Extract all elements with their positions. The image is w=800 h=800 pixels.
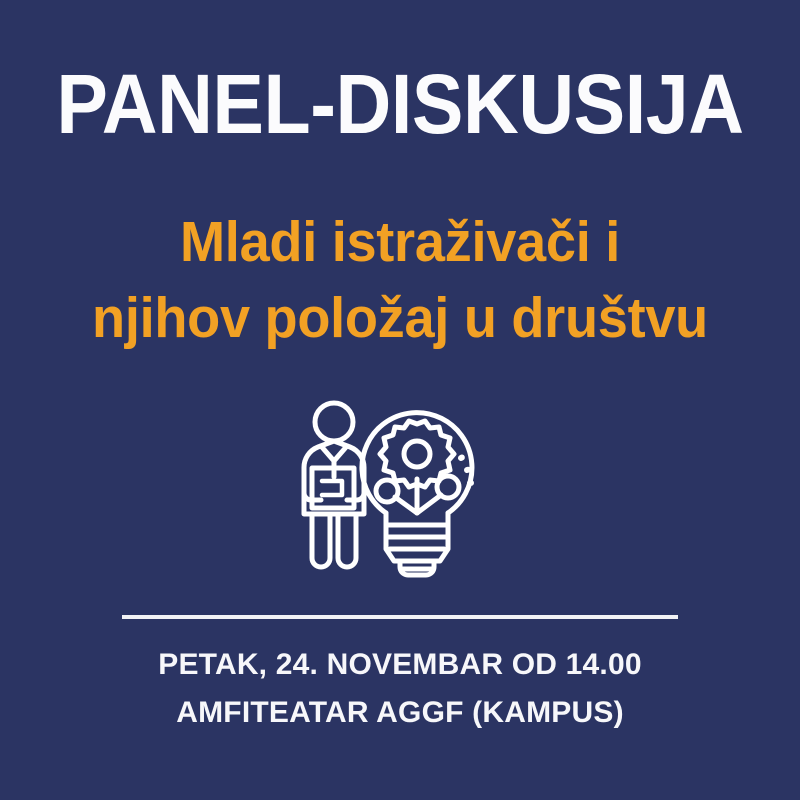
person-figure-icon [304,403,364,567]
circuit-branch-left [395,497,417,513]
poster-canvas: PANEL-DISKUSIJA Mladi istraživači i njih… [0,0,800,800]
glow-dash-1 [457,453,466,462]
title-block: PANEL-DISKUSIJA [0,62,800,146]
subtitle-line-1: Mladi istraživači i [20,204,780,280]
subtitle-block: Mladi istraživači i njihov položaj u dru… [0,204,800,357]
subtitle-line-2: njihov položaj u društvu [20,280,780,356]
person-head [315,403,353,441]
event-datetime: PETAK, 24. NOVEMBAR OD 14.00 [0,641,800,689]
divider [122,615,678,619]
circuit-node-left [376,480,398,502]
gear-hub [404,441,430,467]
person-leg-right [338,514,356,567]
researcher-and-idea-bulb-illustration [290,395,510,585]
footer-block: PETAK, 24. NOVEMBAR OD 14.00 AMFITEATAR … [0,641,800,737]
person-leg-left [312,514,330,567]
circuit-branch-right [417,495,441,513]
clipboard-mark [322,481,342,495]
circuit-node-right [437,476,459,498]
event-location: AMFITEATAR AGGF (KAMPUS) [0,689,800,737]
page-title: PANEL-DISKUSIJA [32,62,768,146]
